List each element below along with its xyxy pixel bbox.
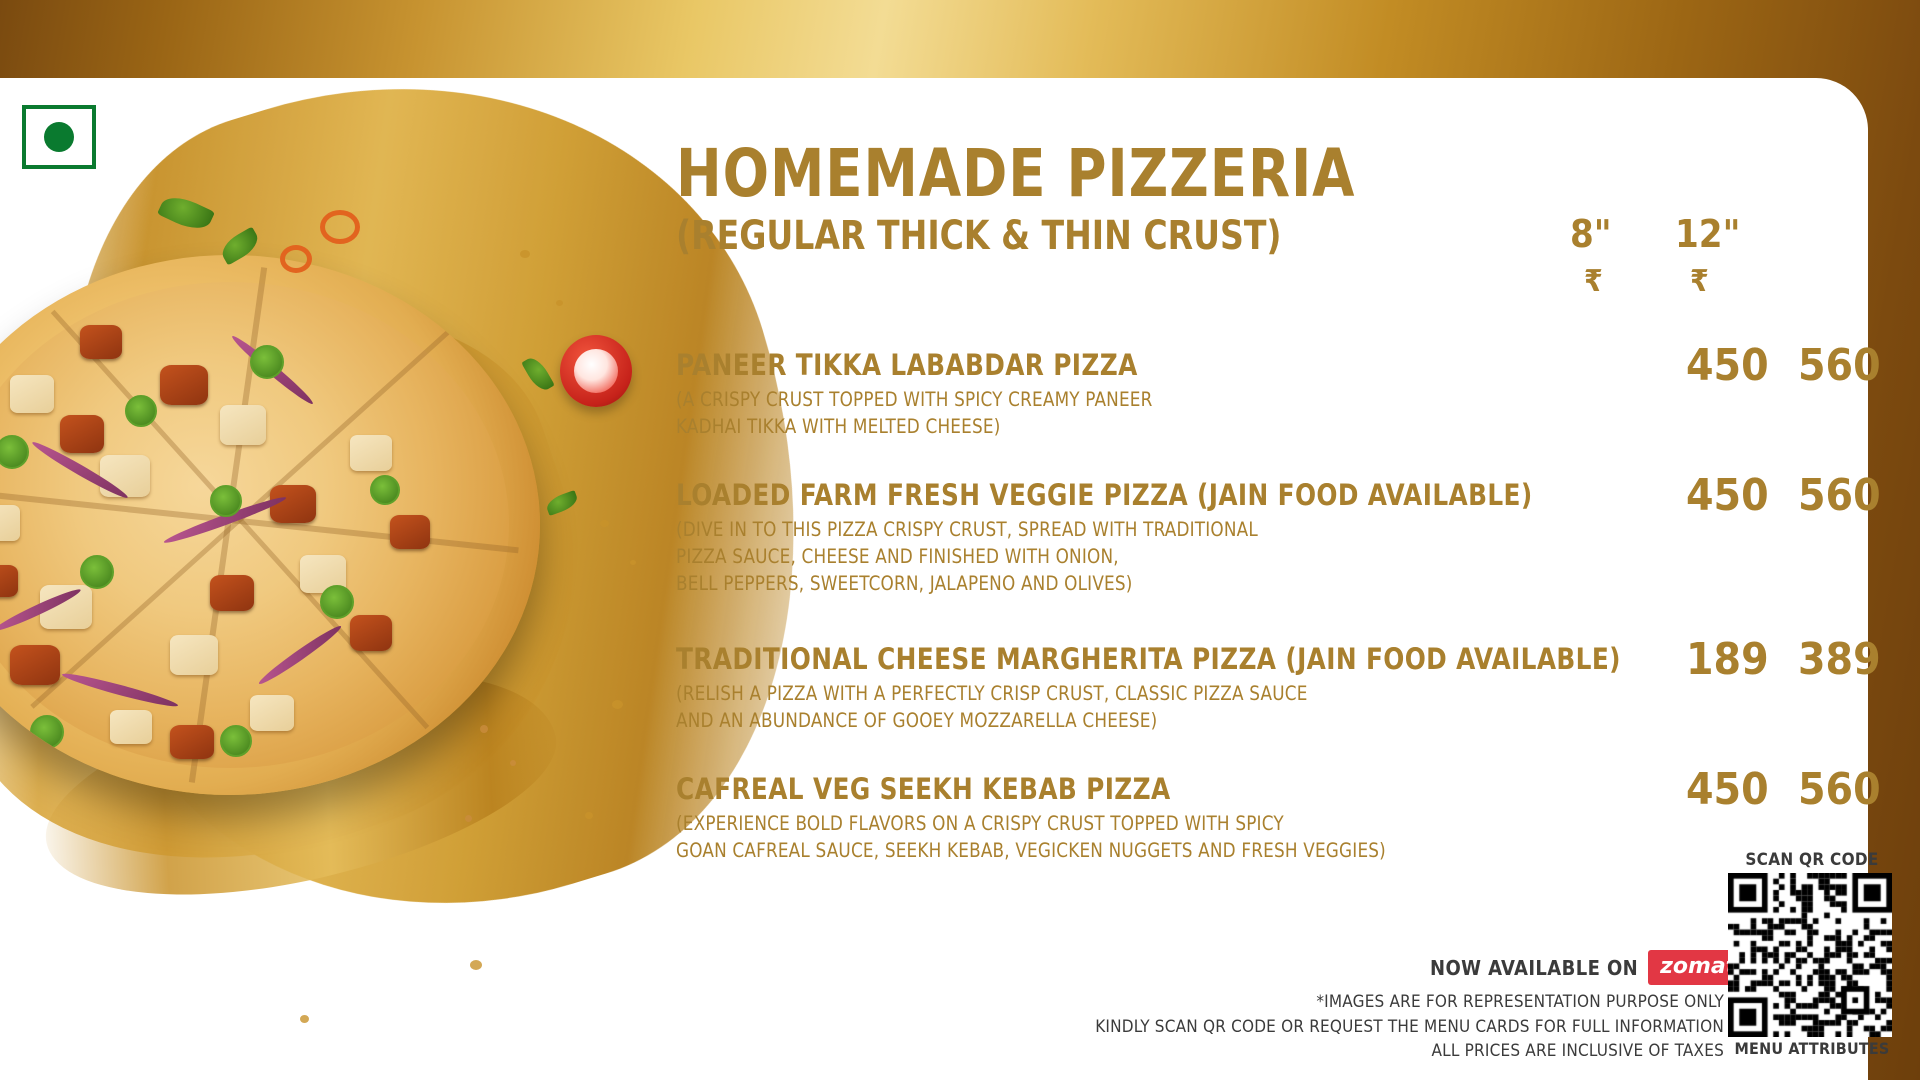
menu-header: HOMEMADE PIZZERIA (REGULAR THICK & THIN …: [676, 140, 1826, 259]
page-title: HOMEMADE PIZZERIA: [676, 140, 1734, 207]
tikka-topping: [0, 565, 18, 597]
price-8-inch: 450: [1686, 470, 1769, 521]
tikka-topping: [10, 645, 60, 685]
pizza-image: [0, 255, 540, 795]
disclaimer-line-2: KINDLY SCAN QR CODE OR REQUEST THE MENU …: [1095, 1015, 1724, 1040]
price-8-inch: 189: [1686, 634, 1769, 685]
menu-item-description: (EXPERIENCE BOLD FLAVORS ON A CRISPY CRU…: [676, 811, 1866, 865]
jalapeno-topping: [125, 395, 157, 427]
brush-speck: [470, 960, 482, 970]
veg-symbol-dot: [44, 122, 74, 152]
menu-item-name: CAFREAL VEG SEEKH KEBAB PIZZA: [676, 772, 1854, 806]
menu-item-name: PANEER TIKKA LABABDAR PIZZA: [676, 348, 1854, 382]
menu-poster: HOMEMADE PIZZERIA (REGULAR THICK & THIN …: [0, 0, 1920, 1080]
size-8-inch-label: 8": [1570, 212, 1612, 256]
price-8-inch: 450: [1686, 764, 1769, 815]
chilli-ring-garnish: [280, 245, 312, 273]
tikka-topping: [80, 325, 122, 359]
menu-item-list: PANEER TIKKA LABABDAR PIZZA (A CRISPY CR…: [676, 348, 1916, 902]
paneer-topping: [350, 435, 392, 471]
paneer-topping: [250, 695, 294, 731]
tikka-topping: [160, 365, 208, 405]
tikka-topping: [210, 575, 254, 611]
price-12-inch: 560: [1798, 340, 1881, 391]
brush-speck: [300, 1015, 309, 1023]
brush-speck: [612, 700, 623, 709]
menu-item-description: (RELISH A PIZZA WITH A PERFECTLY CRISP C…: [676, 681, 1866, 735]
menu-item[interactable]: PANEER TIKKA LABABDAR PIZZA (A CRISPY CR…: [676, 348, 1916, 452]
menu-item-name: LOADED FARM FRESH VEGGIE PIZZA (JAIN FOO…: [676, 478, 1854, 512]
paneer-topping: [220, 405, 266, 445]
menu-item[interactable]: TRADITIONAL CHEESE MARGHERITA PIZZA (JAI…: [676, 642, 1916, 746]
tikka-topping: [350, 615, 392, 651]
tikka-topping: [390, 515, 430, 549]
price-8-inch: 450: [1686, 340, 1769, 391]
paneer-topping: [170, 635, 218, 675]
menu-item-description: (DIVE IN TO THIS PIZZA CRISPY CRUST, SPR…: [676, 517, 1866, 598]
brush-speck: [585, 812, 593, 819]
tikka-topping: [60, 415, 104, 453]
disclaimer-line-3: ALL PRICES ARE INCLUSIVE OF TAXES: [1095, 1039, 1724, 1064]
qr-code-image[interactable]: [1728, 873, 1892, 1037]
jalapeno-topping: [220, 725, 252, 757]
qr-caption: MENU ATTRIBUTES: [1728, 1039, 1896, 1058]
jalapeno-topping: [370, 475, 400, 505]
qr-heading: SCAN QR CODE: [1728, 850, 1896, 870]
tikka-topping: [170, 725, 214, 759]
currency-symbol-12: ₹: [1690, 264, 1709, 299]
price-12-inch: 389: [1798, 634, 1881, 685]
brush-speck: [600, 520, 609, 527]
pizza-photo: [0, 255, 560, 815]
crumb-garnish: [480, 725, 488, 733]
qr-code-block[interactable]: SCAN QR CODE MENU ATTRIBUTES: [1728, 850, 1896, 1058]
chilli-ring-garnish: [320, 210, 360, 244]
veg-symbol-icon: [22, 105, 96, 169]
zomato-availability: NOW AVAILABLE ON zomato: [1430, 950, 1763, 985]
price-12-inch: 560: [1798, 470, 1881, 521]
menu-item-description: (A CRISPY CRUST TOPPED WITH SPICY CREAMY…: [676, 387, 1866, 441]
basil-leaf-garnish: [521, 354, 555, 394]
paneer-topping: [10, 375, 54, 413]
crumb-garnish: [465, 815, 472, 822]
paneer-topping: [110, 710, 152, 744]
price-12-inch: 560: [1798, 764, 1881, 815]
jalapeno-topping: [320, 585, 354, 619]
tomato-slice-garnish: [560, 335, 632, 407]
disclaimer-line-1: *IMAGES ARE FOR REPRESENTATION PURPOSE O…: [1095, 990, 1724, 1015]
menu-item-name: TRADITIONAL CHEESE MARGHERITA PIZZA (JAI…: [676, 642, 1854, 676]
paneer-topping: [0, 505, 20, 541]
jalapeno-topping: [80, 555, 114, 589]
disclaimer-text: *IMAGES ARE FOR REPRESENTATION PURPOSE O…: [1095, 990, 1724, 1064]
jalapeno-topping: [250, 345, 284, 379]
now-available-label: NOW AVAILABLE ON: [1430, 956, 1638, 980]
size-12-inch-label: 12": [1675, 212, 1740, 256]
crumb-garnish: [510, 760, 516, 766]
brush-speck: [630, 560, 636, 565]
menu-item[interactable]: LOADED FARM FRESH VEGGIE PIZZA (JAIN FOO…: [676, 478, 1916, 616]
currency-symbol-8: ₹: [1584, 264, 1603, 299]
jalapeno-topping: [30, 715, 64, 749]
jalapeno-topping: [210, 485, 242, 517]
